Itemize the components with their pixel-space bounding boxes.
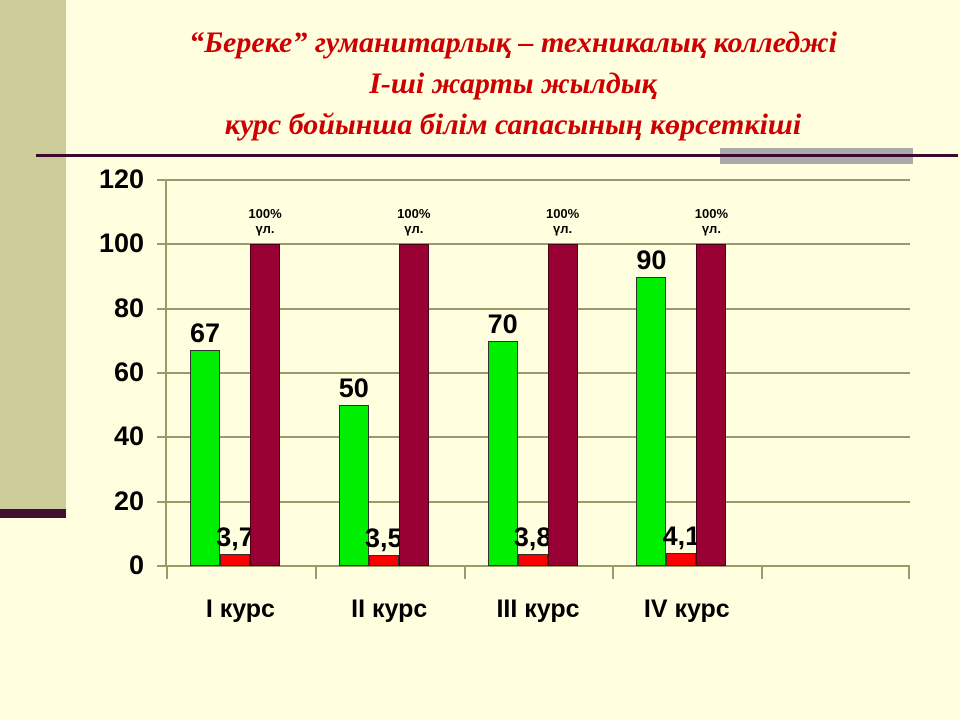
bar-2-series-2 — [369, 555, 399, 566]
x-axis-category-label: IV курс — [612, 595, 761, 624]
y-axis-tick-label: 40 — [0, 423, 144, 450]
y-axis-tick-label: 120 — [0, 166, 144, 193]
bar-value-label: 70 — [466, 311, 540, 338]
y-axis-tick — [157, 179, 166, 181]
x-axis-category-label: II курс — [315, 595, 464, 624]
divider-rule — [36, 154, 958, 157]
bar-annotation: 100% үл. — [220, 206, 310, 236]
y-axis-tick — [157, 436, 166, 438]
y-axis-tick-label: 100 — [0, 230, 144, 257]
x-axis-tick — [612, 566, 614, 579]
y-axis-tick — [157, 243, 166, 245]
bar-value-label: 90 — [614, 247, 688, 274]
x-axis-tick — [761, 566, 763, 579]
bar-4-series-2 — [666, 553, 696, 566]
x-axis-tick — [166, 566, 168, 579]
y-axis-tick — [157, 565, 166, 567]
x-axis-category-label: I курс — [166, 595, 315, 624]
bar-1-series-3 — [250, 244, 280, 566]
bar-chart: 673,7100% үл.503,5100% үл.703,8100% үл.9… — [0, 160, 960, 660]
x-axis-category-label: III курс — [464, 595, 613, 624]
bar-annotation: 100% үл. — [518, 206, 608, 236]
bar-3-series-3 — [548, 244, 578, 566]
plot-area: 673,7100% үл.503,5100% үл.703,8100% үл.9… — [166, 180, 910, 566]
x-axis-tick — [464, 566, 466, 579]
bar-annotation: 100% үл. — [666, 206, 756, 236]
bar-value-label: 50 — [317, 375, 391, 402]
bar-annotation: 100% үл. — [369, 206, 459, 236]
y-axis-tick-label: 60 — [0, 359, 144, 386]
bar-2-series-3 — [399, 244, 429, 566]
y-axis-tick-label: 20 — [0, 488, 144, 515]
x-axis-tick — [908, 566, 910, 579]
bar-3-series-2 — [518, 554, 548, 566]
bar-value-label: 67 — [168, 320, 242, 347]
x-axis-tick — [315, 566, 317, 579]
y-axis-tick — [157, 372, 166, 374]
gridline — [166, 179, 910, 181]
y-axis-tick — [157, 501, 166, 503]
y-axis-tick-label: 0 — [0, 552, 144, 579]
bar-4-series-3 — [696, 244, 726, 566]
bar-1-series-2 — [220, 554, 250, 566]
y-axis-tick — [157, 308, 166, 310]
page-title: “Береке” гуманитарлық – техникалық колле… — [66, 22, 960, 145]
y-axis-tick-label: 80 — [0, 295, 144, 322]
